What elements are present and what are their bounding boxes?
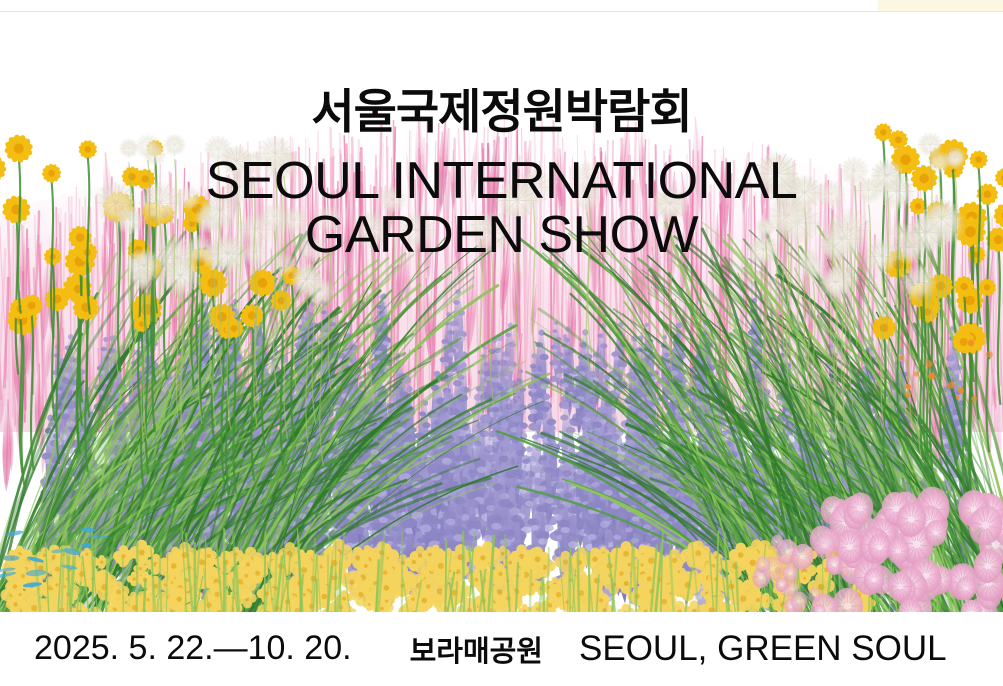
banner-green-band: SEOUL, GREEN SOUL xyxy=(531,611,1003,686)
meadow-illustration xyxy=(0,12,1003,612)
top-cream-strip xyxy=(878,0,1003,11)
bottom-banner: 2025. 5. 22.—10. 20. 보라매공원 SEOUL, GREEN … xyxy=(0,611,1003,686)
garden-show-poster: 서울국제정원박람회 SEOUL INTERNATIONAL GARDEN SHO… xyxy=(0,0,1003,686)
event-tagline: SEOUL, GREEN SOUL xyxy=(579,629,947,669)
banner-purple-band: 2025. 5. 22.—10. 20. 보라매공원 xyxy=(0,611,531,686)
event-dates: 2025. 5. 22.—10. 20. xyxy=(34,629,352,668)
event-venue: 보라매공원 xyxy=(410,628,543,670)
